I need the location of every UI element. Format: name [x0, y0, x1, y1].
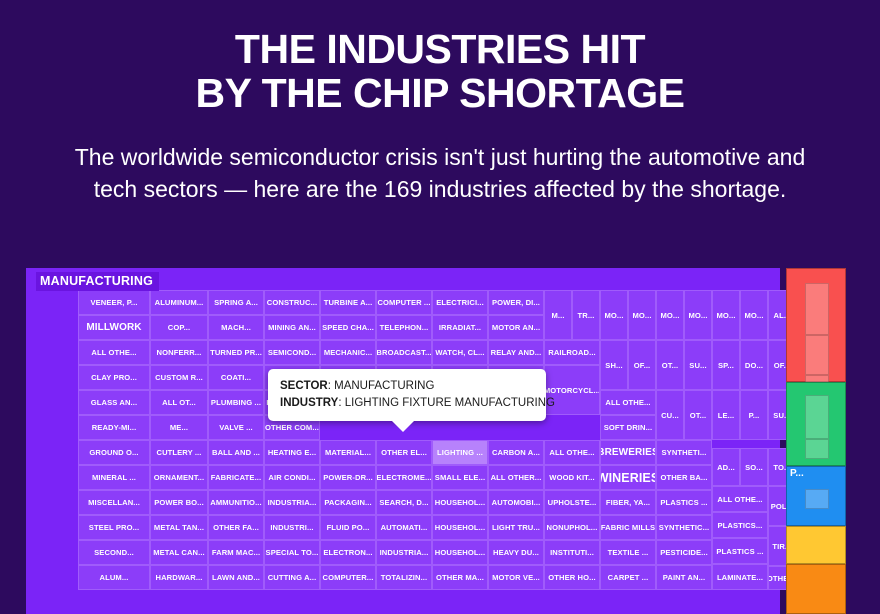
treemap-cell[interactable]: PLASTICS...: [712, 512, 768, 538]
treemap-cell[interactable]: OT...: [656, 340, 684, 390]
sector-strip-subcell[interactable]: [805, 439, 829, 459]
treemap-cell[interactable]: AIR CONDI...: [264, 465, 320, 490]
treemap-cell[interactable]: SP...: [712, 340, 740, 390]
infographic-root: THE INDUSTRIES HIT BY THE CHIP SHORTAGE …: [0, 0, 880, 614]
treemap-cell[interactable]: TELEPHON...: [376, 315, 432, 340]
treemap-cell[interactable]: SU...: [684, 340, 712, 390]
treemap-cell[interactable]: WINERIES: [600, 465, 656, 490]
treemap-cell[interactable]: UPHOLSTE...: [544, 490, 600, 515]
treemap-cell[interactable]: ELECTROME...: [376, 465, 432, 490]
treemap-cell[interactable]: MOTOR VE...: [488, 565, 544, 590]
treemap-cell[interactable]: INDUSTRI...: [264, 515, 320, 540]
treemap-cell[interactable]: ME...: [150, 415, 208, 440]
treemap-cell[interactable]: SPECIAL TO...: [264, 540, 320, 565]
treemap-cell[interactable]: POWER-DR...: [320, 465, 376, 490]
treemap-cell[interactable]: MACH...: [208, 315, 264, 340]
treemap-cell[interactable]: FARM MAC...: [208, 540, 264, 565]
treemap-cell[interactable]: ALL OTHE...: [712, 486, 768, 512]
sector-strip-subcell[interactable]: [805, 335, 829, 375]
treemap-cell[interactable]: GROUND O...: [78, 440, 150, 465]
tooltip-sector-line: SECTOR: MANUFACTURING: [280, 378, 534, 395]
treemap-cell[interactable]: SECOND...: [78, 540, 150, 565]
tooltip-sector-key: SECTOR: [280, 380, 328, 392]
treemap-cell[interactable]: COMPUTER...: [320, 565, 376, 590]
treemap-cell[interactable]: TURBINE A...: [320, 290, 376, 315]
treemap-cell[interactable]: SYNTHETI...: [656, 440, 712, 465]
treemap-cell[interactable]: AUTOMOBI...: [488, 490, 544, 515]
treemap-cell[interactable]: COMPUTER ...: [376, 290, 432, 315]
treemap-cell[interactable]: OF...: [628, 340, 656, 390]
sector-yellow[interactable]: [786, 526, 846, 564]
treemap-cell[interactable]: INDUSTRIA...: [264, 490, 320, 515]
treemap-cell[interactable]: NONUPHOL...: [544, 515, 600, 540]
sector-blue[interactable]: P...: [786, 466, 846, 526]
treemap-cell[interactable]: INDUSTRIA...: [376, 540, 432, 565]
treemap-cell[interactable]: METAL TAN...: [150, 515, 208, 540]
treemap-cell[interactable]: HEAVY DU...: [488, 540, 544, 565]
treemap-cell[interactable]: MO...: [740, 290, 768, 340]
treemap-cell[interactable]: ALL OTHE...: [544, 440, 600, 465]
treemap-panel: VENEER, P...MILLWORKALL OTHE...CLAY PRO.…: [26, 268, 780, 614]
title-line-2: BY THE CHIP SHORTAGE: [0, 72, 880, 116]
treemap-cell[interactable]: OTHER HO...: [544, 565, 600, 590]
treemap-cell[interactable]: ELECTRON...: [320, 540, 376, 565]
treemap-cell[interactable]: WOOD KIT...: [544, 465, 600, 490]
sector-strip-subcell[interactable]: [805, 489, 829, 509]
treemap-cell[interactable]: MECHANIC...: [320, 340, 376, 365]
treemap-cell[interactable]: OTHER FA...: [208, 515, 264, 540]
treemap-cell[interactable]: RELAY AND...: [488, 340, 544, 365]
treemap-cell[interactable]: ALL OTHER...: [488, 465, 544, 490]
treemap-cell[interactable]: OTHER BA...: [656, 465, 712, 490]
sector-color-strip[interactable]: P...: [786, 268, 846, 614]
treemap-cell[interactable]: P...: [740, 390, 768, 440]
treemap-cell[interactable]: SOFT DRIN...: [600, 415, 656, 440]
treemap-cell[interactable]: MISCELLAN...: [78, 490, 150, 515]
treemap-cell[interactable]: AUTOMATI...: [376, 515, 432, 540]
tooltip-pointer-icon: [391, 420, 415, 432]
treemap-cell[interactable]: COP...: [150, 315, 208, 340]
treemap-cell[interactable]: OTHER MA...: [432, 565, 488, 590]
tooltip-industry-value: : LIGHTING FIXTURE MANUFACTURING: [338, 397, 555, 409]
treemap-cell[interactable]: PLUMBING ...: [208, 390, 264, 415]
treemap-cell[interactable]: MO...: [712, 290, 740, 340]
treemap-cell[interactable]: METAL CAN...: [150, 540, 208, 565]
treemap-cell[interactable]: HOUSEHOL...: [432, 540, 488, 565]
treemap-cell[interactable]: BROADCAST...: [376, 340, 432, 365]
treemap-cell[interactable]: VENEER, P...: [78, 290, 150, 315]
page-title: THE INDUSTRIES HIT BY THE CHIP SHORTAGE: [0, 28, 880, 116]
treemap-cell[interactable]: ALUMINUM...: [150, 290, 208, 315]
treemap-cell[interactable]: PLASTICS ...: [712, 538, 768, 564]
treemap-cell[interactable]: MO...: [600, 290, 628, 340]
tooltip-sector-value: : MANUFACTURING: [328, 380, 435, 392]
sector-green[interactable]: [786, 382, 846, 466]
treemap-cell[interactable]: LE...: [712, 390, 740, 440]
treemap-cell[interactable]: CUSTOM R...: [150, 365, 208, 390]
treemap-cell[interactable]: CLAY PRO...: [78, 365, 150, 390]
treemap-cell[interactable]: READY-MI...: [78, 415, 150, 440]
sector-red[interactable]: [786, 268, 846, 382]
title-line-1: THE INDUSTRIES HIT: [235, 26, 645, 72]
tooltip-industry-key: INDUSTRY: [280, 397, 338, 409]
treemap-cell[interactable]: PLASTICS ...: [656, 490, 712, 515]
treemap-cell[interactable]: PACKAGIN...: [320, 490, 376, 515]
treemap-cell[interactable]: MO...: [628, 290, 656, 340]
treemap-cell[interactable]: RAILROAD...: [544, 340, 600, 365]
treemap-cell[interactable]: MILLWORK: [78, 315, 150, 340]
treemap-cell[interactable]: MO...: [684, 290, 712, 340]
tooltip-industry-line: INDUSTRY: LIGHTING FIXTURE MANUFACTURING: [280, 395, 534, 412]
treemap-cell[interactable]: INSTITUTI...: [544, 540, 600, 565]
treemap-cell[interactable]: HOUSEHOL...: [432, 490, 488, 515]
sector-strip-subcell[interactable]: [805, 283, 829, 335]
treemap-cell[interactable]: LIGHT TRU...: [488, 515, 544, 540]
treemap-grid[interactable]: VENEER, P...MILLWORKALL OTHE...CLAY PRO.…: [26, 268, 780, 614]
treemap-cell[interactable]: FLUID PO...: [320, 515, 376, 540]
sector-header-manufacturing: MANUFACTURING: [36, 272, 159, 291]
treemap-cell[interactable]: OT...: [684, 390, 712, 440]
treemap-cell[interactable]: POWER BO...: [150, 490, 208, 515]
treemap-cell[interactable]: TOTALIZIN...: [376, 565, 432, 590]
treemap-cell[interactable]: CONSTRUC...: [264, 290, 320, 315]
treemap-tooltip: SECTOR: MANUFACTURING INDUSTRY: LIGHTING…: [268, 369, 546, 421]
treemap-cell[interactable]: AMMUNITIO...: [208, 490, 264, 515]
treemap-cell[interactable]: CUTTING A...: [264, 565, 320, 590]
treemap-cell[interactable]: HARDWAR...: [150, 565, 208, 590]
treemap-cell[interactable]: BREWERIES: [600, 440, 656, 465]
treemap-cell[interactable]: ALL OT...: [150, 390, 208, 415]
treemap-cell[interactable]: CUTLERY ...: [150, 440, 208, 465]
treemap-cell[interactable]: TEXTILE ...: [600, 540, 656, 565]
treemap-cell[interactable]: FIBER, YA...: [600, 490, 656, 515]
treemap-cell[interactable]: ALL OTHE...: [78, 340, 150, 365]
sector-strip-label: P...: [790, 468, 804, 479]
treemap-cell[interactable]: STEEL PRO...: [78, 515, 150, 540]
treemap-cell[interactable]: SPRING A...: [208, 290, 264, 315]
sector-orange[interactable]: [786, 564, 846, 614]
treemap-cell[interactable]: HOUSEHOL...: [432, 515, 488, 540]
treemap-cell[interactable]: MO...: [656, 290, 684, 340]
treemap-cell[interactable]: ALUM...: [78, 565, 150, 590]
treemap-cell[interactable]: SYNTHETIC...: [656, 515, 712, 540]
treemap-cell[interactable]: SMALL ELE...: [432, 465, 488, 490]
treemap-cell[interactable]: AD...: [712, 448, 740, 486]
treemap-cell[interactable]: GLASS AN...: [78, 390, 150, 415]
treemap-cell[interactable]: VALVE ...: [208, 415, 264, 440]
sector-strip-subcell[interactable]: [805, 395, 829, 439]
treemap-cell[interactable]: CARPET ...: [600, 565, 656, 590]
treemap-cell[interactable]: HEATING E...: [264, 440, 320, 465]
treemap-cell[interactable]: SPEED CHA...: [320, 315, 376, 340]
treemap-cell[interactable]: ELECTRICI...: [432, 290, 488, 315]
treemap-cell[interactable]: COATI...: [208, 365, 264, 390]
treemap-cell[interactable]: CU...: [656, 390, 684, 440]
treemap-cell[interactable]: PAINT AN...: [656, 565, 712, 590]
treemap-cell[interactable]: ORNAMENT...: [150, 465, 208, 490]
treemap-cell[interactable]: BALL AND ...: [208, 440, 264, 465]
treemap-cell[interactable]: OTHER EL...: [376, 440, 432, 465]
treemap-cell[interactable]: PESTICIDE...: [656, 540, 712, 565]
treemap-cell[interactable]: SEMICOND...: [264, 340, 320, 365]
treemap-cell[interactable]: LIGHTING ...: [432, 440, 488, 465]
treemap-cell[interactable]: MINERAL ...: [78, 465, 150, 490]
treemap-cell[interactable]: TR...: [572, 290, 600, 340]
treemap-cell[interactable]: M...: [544, 290, 572, 340]
treemap-cell[interactable]: FABRICATE...: [208, 465, 264, 490]
treemap-cell[interactable]: SEARCH, D...: [376, 490, 432, 515]
treemap-cell[interactable]: FABRIC MILLS: [600, 515, 656, 540]
treemap-cell[interactable]: MOTOR AN...: [488, 315, 544, 340]
treemap-cell[interactable]: IRRADIAT...: [432, 315, 488, 340]
treemap-cell[interactable]: MINING AN...: [264, 315, 320, 340]
page-subtitle: The worldwide semiconductor crisis isn't…: [60, 142, 820, 205]
treemap-cell[interactable]: POWER, DI...: [488, 290, 544, 315]
treemap-cell[interactable]: DO...: [740, 340, 768, 390]
treemap-cell[interactable]: ALL OTHE...: [600, 390, 656, 415]
treemap-cell[interactable]: MATERIAL...: [320, 440, 376, 465]
treemap-cell[interactable]: WATCH, CL...: [432, 340, 488, 365]
treemap-cell[interactable]: SO...: [740, 448, 768, 486]
treemap-cell[interactable]: TURNED PR...: [208, 340, 264, 365]
treemap-cell[interactable]: CARBON A...: [488, 440, 544, 465]
treemap-cell[interactable]: LAWN AND...: [208, 565, 264, 590]
treemap-cell[interactable]: NONFERR...: [150, 340, 208, 365]
treemap-cell[interactable]: SH...: [600, 340, 628, 390]
treemap-cell[interactable]: LAMINATE...: [712, 564, 768, 590]
